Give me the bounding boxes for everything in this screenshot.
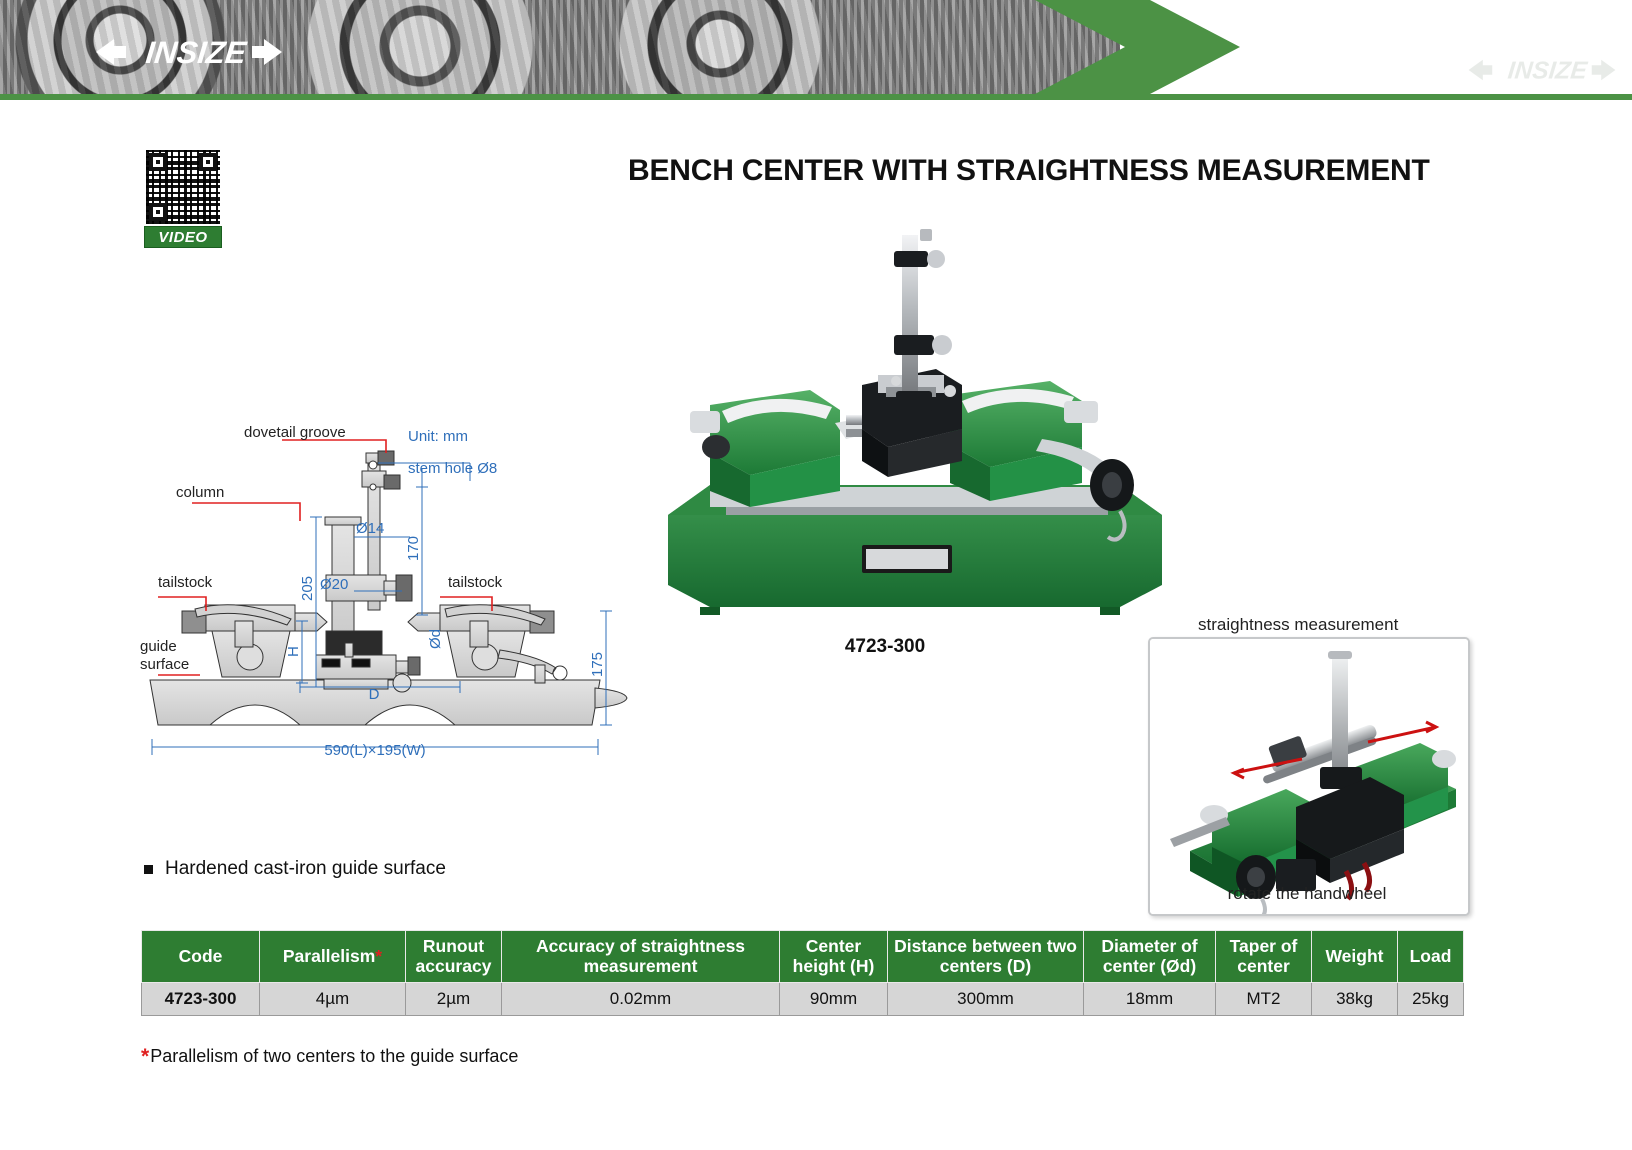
cell-accuracy-straightness: 0.02mm <box>502 983 780 1016</box>
footnote-asterisk: * <box>141 1045 149 1068</box>
th-taper-center: Taper of center <box>1216 931 1312 983</box>
label-guide-surface-1: guide <box>140 638 177 655</box>
cell-center-height: 90mm <box>780 983 888 1016</box>
th-parallelism: Parallelism* <box>260 931 406 983</box>
th-load: Load <box>1398 931 1464 983</box>
cell-taper-center: MT2 <box>1216 983 1312 1016</box>
th-distance-two-centers: Distance between two centers (D) <box>888 931 1084 983</box>
straightness-measurement-image <box>1148 637 1470 916</box>
feature-text: Hardened cast-iron guide surface <box>165 858 446 880</box>
th-runout-accuracy: Runout accuracy <box>406 931 502 983</box>
dim-center-dia: Ød <box>427 629 444 649</box>
product-photo <box>650 215 1190 615</box>
svg-text:INSIZE: INSIZE <box>144 35 249 70</box>
page-header: INSIZE INSIZE <box>0 0 1632 100</box>
cell-load: 25kg <box>1398 983 1464 1016</box>
svg-text:INSIZE: INSIZE <box>1507 58 1589 85</box>
footnote-text: Parallelism of two centers to the guide … <box>150 1046 518 1066</box>
inset-caption: rotate the handwheel <box>1148 884 1466 904</box>
th-code: Code <box>142 931 260 983</box>
label-dovetail-groove: dovetail groove <box>244 425 346 441</box>
cell-runout-accuracy: 2µm <box>406 983 502 1016</box>
dim-H: H <box>285 646 302 657</box>
dim-D: D <box>369 686 380 703</box>
qr-finder-top-left <box>149 153 167 171</box>
inset-title: straightness measurement <box>1198 615 1398 635</box>
th-weight: Weight <box>1312 931 1398 983</box>
qr-finder-bottom-left <box>149 203 167 221</box>
insize-watermark: INSIZE <box>1462 55 1622 85</box>
header-divider <box>0 94 1632 100</box>
product-code-caption: 4723-300 <box>760 636 1010 658</box>
dim-d14: Ø14 <box>356 520 384 537</box>
label-tailstock-right: tailstock <box>448 574 503 591</box>
specification-table: Code Parallelism* Runout accuracy Accura… <box>141 930 1464 1016</box>
cell-distance-two-centers: 300mm <box>888 983 1084 1016</box>
dim-base: 590(L)×195(W) <box>324 742 425 759</box>
label-column: column <box>176 484 224 501</box>
dim-205: 205 <box>299 576 316 601</box>
asterisk-marker: * <box>375 946 382 966</box>
qr-finder-top-right <box>199 153 217 171</box>
table-footnote: *Parallelism of two centers to the guide… <box>141 1045 518 1069</box>
th-diameter-center: Diameter of center (Ød) <box>1084 931 1216 983</box>
cell-diameter-center: 18mm <box>1084 983 1216 1016</box>
qr-code-icon[interactable] <box>144 148 222 226</box>
table-header-row: Code Parallelism* Runout accuracy Accura… <box>142 931 1464 983</box>
bullet-square-icon <box>144 865 153 874</box>
label-guide-surface-2: surface <box>140 656 189 673</box>
dim-d20: Ø20 <box>320 576 348 593</box>
page-title: BENCH CENTER WITH STRAIGHTNESS MEASUREME… <box>628 154 1588 188</box>
feature-list-item: Hardened cast-iron guide surface <box>144 858 446 880</box>
label-stem-hole: stem hole Ø8 <box>408 460 497 477</box>
dim-170: 170 <box>405 536 422 561</box>
th-center-height: Center height (H) <box>780 931 888 983</box>
video-qr-block[interactable]: VIDEO <box>144 148 222 248</box>
video-badge-label[interactable]: VIDEO <box>144 226 222 248</box>
technical-drawing: dovetail groove stem hole Ø8 column tail… <box>140 425 640 775</box>
insize-logo: INSIZE <box>96 33 282 71</box>
cell-parallelism: 4µm <box>260 983 406 1016</box>
dim-175: 175 <box>589 652 606 677</box>
table-row: 4723-300 4µm 2µm 0.02mm 90mm 300mm 18mm … <box>142 983 1464 1016</box>
label-tailstock-left: tailstock <box>158 574 213 591</box>
cell-weight: 38kg <box>1312 983 1398 1016</box>
th-accuracy-straightness: Accuracy of straightness measurement <box>502 931 780 983</box>
label-unit-note: Unit: mm <box>408 428 468 445</box>
cell-code: 4723-300 <box>142 983 260 1016</box>
